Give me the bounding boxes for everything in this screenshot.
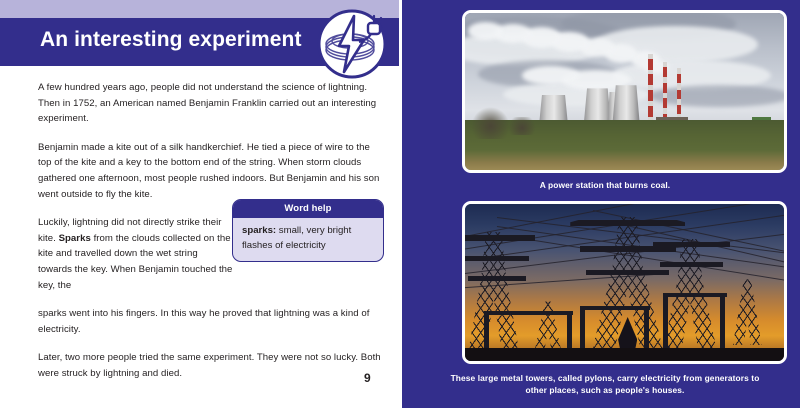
figure-caption-pylons: These large metal towers, called pylons,… xyxy=(440,372,770,396)
paragraph-4: Later, two more people tried the same ex… xyxy=(38,350,386,381)
book-spread: An interesting experiment A few hundred … xyxy=(0,0,800,408)
page-title: An interesting experiment xyxy=(40,28,302,52)
figure-pylons xyxy=(462,201,787,364)
page-number: 9 xyxy=(364,371,371,385)
word-help-body: sparks: small, very bright flashes of el… xyxy=(233,218,383,261)
word-help-heading: Word help xyxy=(233,200,383,218)
page-gutter xyxy=(400,0,402,408)
word-help-box: Word help sparks: small, very bright fla… xyxy=(232,199,384,262)
paragraph-1: A few hundred years ago, people did not … xyxy=(38,80,386,127)
left-page: An interesting experiment A few hundred … xyxy=(0,0,400,408)
figure-caption-power-station: A power station that burns coal. xyxy=(440,179,770,191)
right-page: A power station that burns coal. xyxy=(400,0,800,408)
paragraph-3-bold-term: Sparks xyxy=(59,233,91,244)
figure-power-station xyxy=(462,10,787,173)
electricity-pylons-sunset-photo xyxy=(465,204,784,361)
paragraph-2: Benjamin made a kite out of a silk handk… xyxy=(38,140,386,202)
paragraph-3-wrapped: Luckily, lightning did not directly stri… xyxy=(38,215,234,293)
paragraph-3-continued: sparks went into his fingers. In this wa… xyxy=(38,306,386,337)
lightning-plug-icon xyxy=(312,6,388,80)
word-help-term: sparks: xyxy=(242,225,276,236)
coal-power-station-photo xyxy=(465,13,784,170)
